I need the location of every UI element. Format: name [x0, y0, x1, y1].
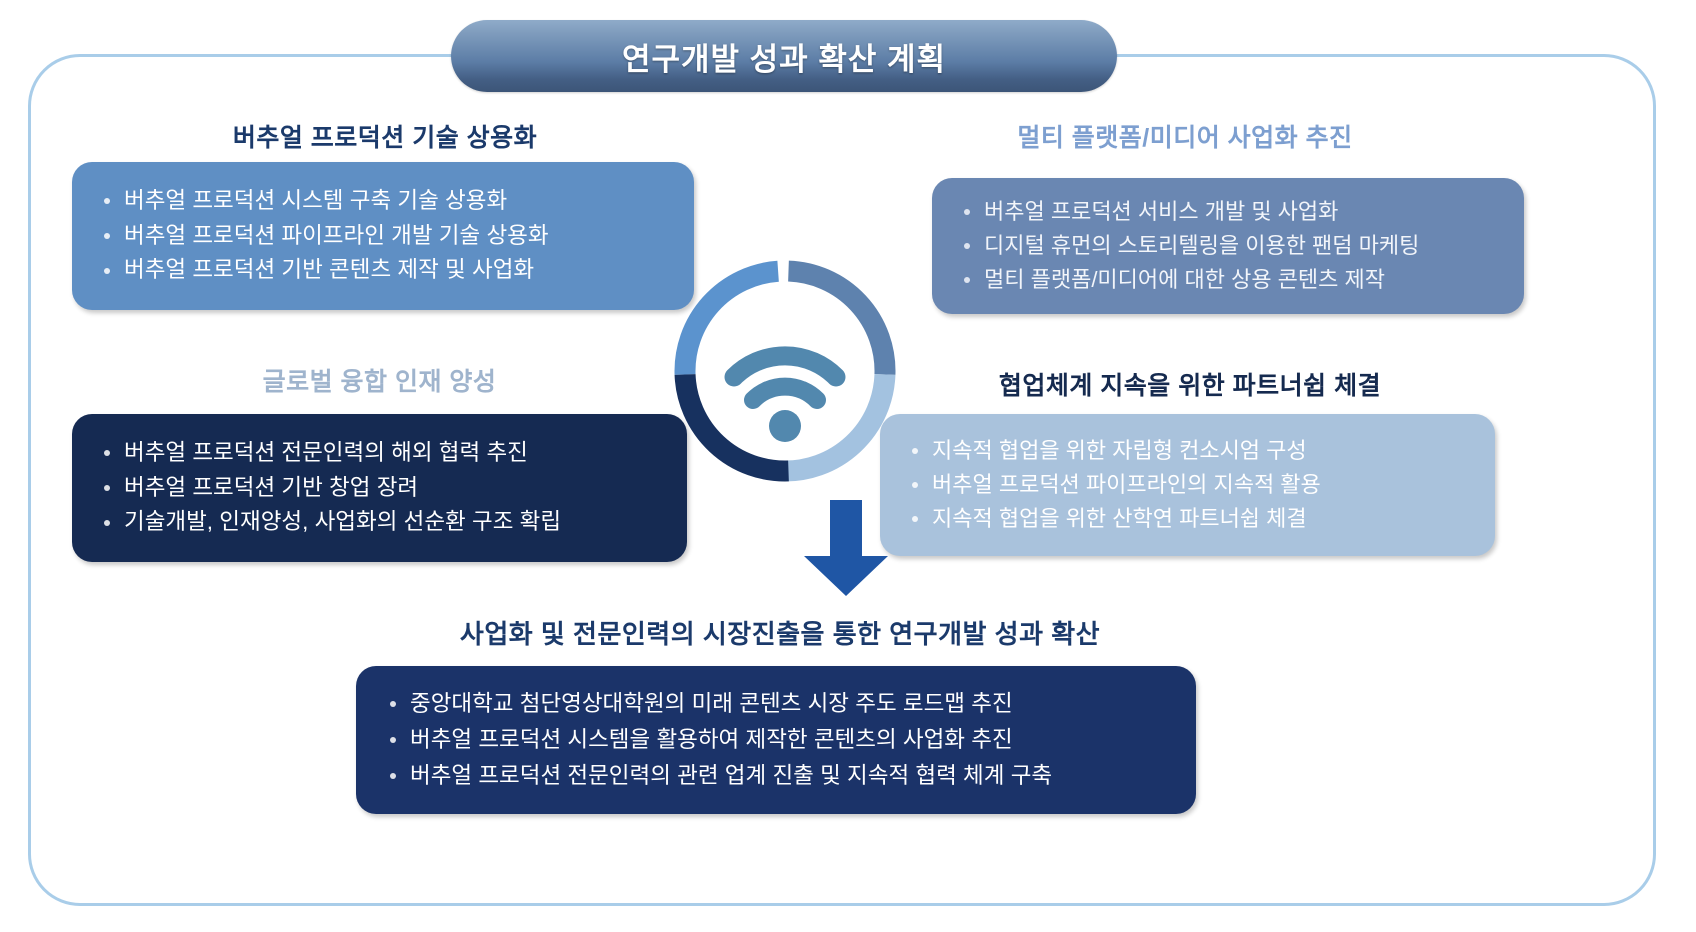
list-item: 버추얼 프로덕션 전문인력의 해외 협력 추진	[96, 436, 677, 471]
list-item: 버추얼 프로덕션 기반 콘텐츠 제작 및 사업화	[96, 253, 684, 288]
list-item: 기술개발, 인재양성, 사업화의 선순환 구조 확립	[96, 505, 677, 540]
list-item: 버추얼 프로덕션 기반 창업 장려	[96, 471, 677, 506]
list-item: 버추얼 프로덕션 파이프라인 개발 기술 상용화	[96, 219, 684, 254]
bullet-list-outcome: 중앙대학교 첨단영상대학원의 미래 콘텐츠 시장 주도 로드맵 추진 버추얼 프…	[382, 686, 1186, 794]
panel-top-right: 버추얼 프로덕션 서비스 개발 및 사업화 디지털 휴먼의 스토리텔링을 이용한…	[932, 178, 1524, 314]
panel-bottom-right: 지속적 협업을 위한 자립형 컨소시엄 구성 버추얼 프로덕션 파이프라인의 지…	[880, 414, 1495, 556]
list-item: 버추얼 프로덕션 시스템을 활용하여 제작한 콘텐츠의 사업화 추진	[382, 722, 1186, 758]
list-item: 지속적 협업을 위한 자립형 컨소시엄 구성	[904, 434, 1485, 468]
list-item: 버추얼 프로덕션 서비스 개발 및 사업화	[956, 195, 1514, 229]
list-item: 버추얼 프로덕션 전문인력의 관련 업계 진출 및 지속적 협력 체계 구축	[382, 758, 1186, 794]
bullet-list-top-left: 버추얼 프로덕션 시스템 구축 기술 상용화 버추얼 프로덕션 파이프라인 개발…	[96, 184, 684, 289]
page-title: 연구개발 성과 확산 계획	[622, 34, 946, 79]
bullet-list-bottom-left: 버추얼 프로덕션 전문인력의 해외 협력 추진 버추얼 프로덕션 기반 창업 장…	[96, 436, 677, 541]
list-item: 중앙대학교 첨단영상대학원의 미래 콘텐츠 시장 주도 로드맵 추진	[382, 686, 1186, 722]
bullet-list-bottom-right: 지속적 협업을 위한 자립형 컨소시엄 구성 버추얼 프로덕션 파이프라인의 지…	[904, 434, 1485, 536]
panel-outcome: 중앙대학교 첨단영상대학원의 미래 콘텐츠 시장 주도 로드맵 추진 버추얼 프…	[356, 666, 1196, 814]
heading-bottom-left: 글로벌 융합 인재 양성	[72, 362, 687, 398]
bullet-list-top-right: 버추얼 프로덕션 서비스 개발 및 사업화 디지털 휴먼의 스토리텔링을 이용한…	[956, 195, 1514, 297]
heading-top-right: 멀티 플랫폼/미디어 사업화 추진	[875, 118, 1495, 154]
panel-top-left: 버추얼 프로덕션 시스템 구축 기술 상용화 버추얼 프로덕션 파이프라인 개발…	[72, 162, 694, 310]
panel-bottom-left: 버추얼 프로덕션 전문인력의 해외 협력 추진 버추얼 프로덕션 기반 창업 장…	[72, 414, 687, 562]
down-arrow-icon	[800, 500, 892, 596]
list-item: 버추얼 프로덕션 파이프라인의 지속적 활용	[904, 468, 1485, 502]
list-item: 버추얼 프로덕션 시스템 구축 기술 상용화	[96, 184, 684, 219]
heading-bottom-right: 협업체계 지속을 위한 파트너쉽 체결	[880, 366, 1500, 402]
list-item: 디지털 휴먼의 스토리텔링을 이용한 팬덤 마케팅	[956, 229, 1514, 263]
wifi-icon	[662, 248, 908, 494]
diagram-title-banner: 연구개발 성과 확산 계획	[451, 20, 1117, 92]
list-item: 멀티 플랫폼/미디어에 대한 상용 콘텐츠 제작	[956, 263, 1514, 297]
list-item: 지속적 협업을 위한 산학연 파트너쉽 체결	[904, 502, 1485, 536]
heading-outcome: 사업화 및 전문인력의 시장진출을 통한 연구개발 성과 확산	[350, 614, 1210, 651]
heading-top-left: 버추얼 프로덕션 기술 상용화	[80, 118, 690, 154]
